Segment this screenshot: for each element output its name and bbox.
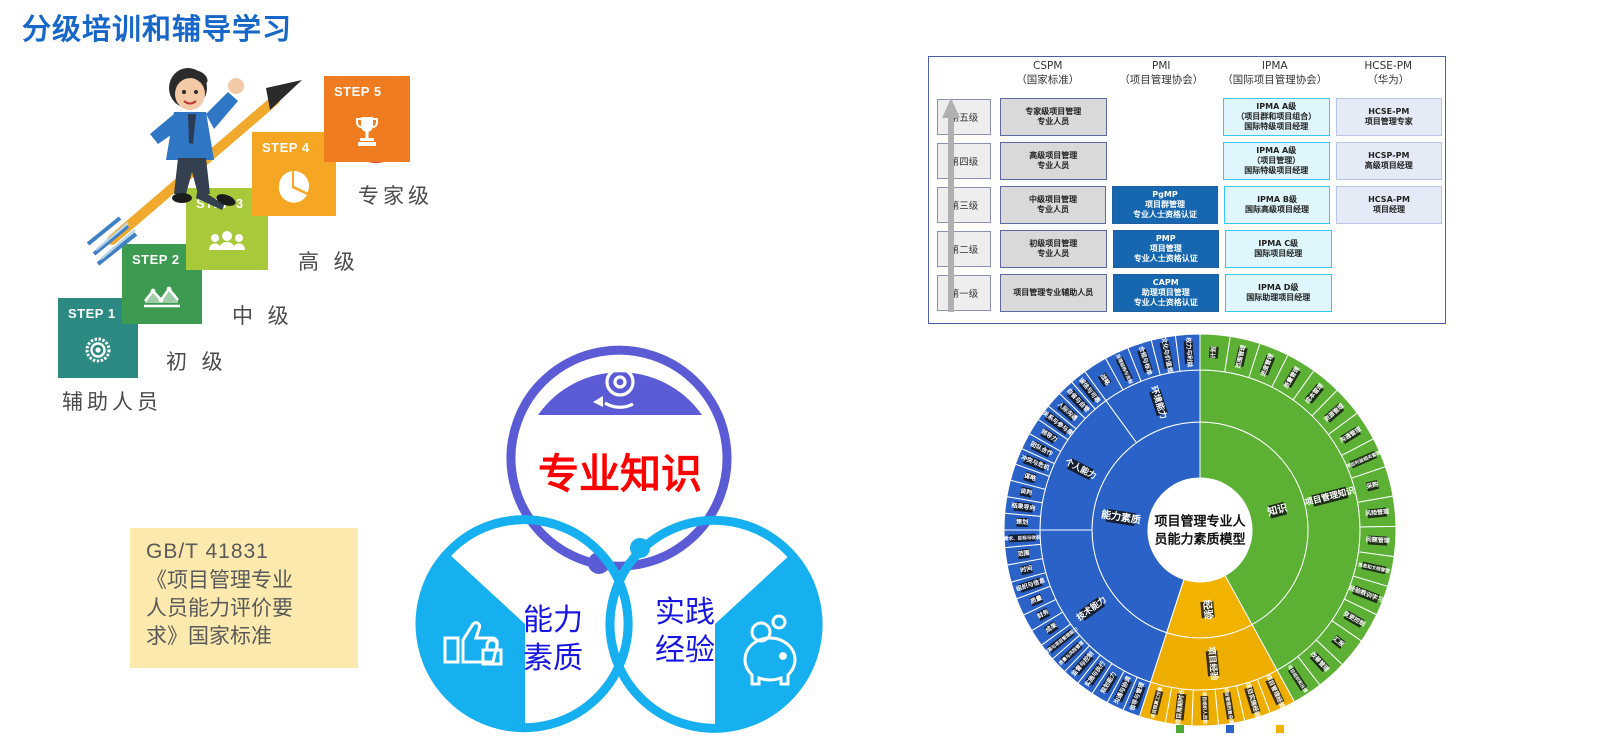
cert-cell[interactable]: 初级项目管理专业人员 [1000, 230, 1107, 268]
sunburst-label: 策划 [1015, 518, 1028, 527]
certification-level-table: CSPM（国家标准） PMI（项目管理协会） IPMA（国际项目管理协会） HC… [928, 56, 1446, 324]
legend-dot-capability [1226, 725, 1234, 733]
competency-venn-diagram: 专业知识 能力 素质 实践 经验 [375, 320, 865, 740]
sunburst-center [1148, 478, 1252, 582]
standard-code: GB/T 41831 [146, 538, 350, 566]
cert-table-header: CSPM（国家标准） PMI（项目管理协会） IPMA（国际项目管理协会） HC… [929, 57, 1445, 95]
step-5[interactable]: STEP 5 [324, 76, 410, 162]
standard-line-4: 求》国家标准 [146, 622, 350, 650]
cert-row: 第一级项目管理专业辅助人员CAPM助理项目管理专业人士资格认证IPMA D级国际… [929, 271, 1445, 315]
cert-row: 第四级高级项目管理专业人员IPMA A级（项目管理）国际特级项目经理HCSP-P… [929, 139, 1445, 183]
cert-col-pmi: PMI（项目管理协会） [1105, 57, 1219, 95]
venn-label-knowledge: 专业知识 [538, 450, 702, 498]
cert-cell[interactable]: 项目管理专业辅助人员 [1000, 274, 1107, 312]
cert-col-hcse: HCSE-PM（华为） [1332, 57, 1446, 95]
cert-cell[interactable]: PMP项目管理专业人士资格认证 [1113, 230, 1220, 268]
competency-sunburst-chart: 知识项目管理知识计划范围管理进度管理质量管理成本管理资源管理沟通管理项目利益相关… [1000, 330, 1400, 730]
grade-label-5: 专家级 [358, 180, 433, 210]
cert-cell[interactable]: IPMA B级国际高级项目经理 [1224, 186, 1330, 224]
grade-label-1: 辅助人员 [62, 386, 162, 416]
cert-cell[interactable]: 专家级项目管理专业人员 [1000, 98, 1107, 136]
cert-table-body: 第五级专家级项目管理专业人员IPMA A级（项目群和项目组合）国际特级项目经理H… [929, 95, 1445, 315]
legend-dot-experience [1276, 725, 1284, 733]
up-arrow-icon [942, 98, 960, 312]
grade-label-2: 初 级 [166, 346, 227, 376]
cert-cell[interactable]: HCSE-PM项目管理专家 [1336, 98, 1443, 136]
sunburst-label: 问题管理 [1365, 535, 1389, 544]
step-5-label: STEP 5 [334, 84, 382, 99]
cert-cell [1338, 274, 1443, 312]
cert-cell[interactable]: PgMP项目群管理专业人士资格认证 [1112, 186, 1218, 224]
cert-col-ipma: IPMA（国际项目管理协会） [1218, 57, 1332, 95]
standard-line-3: 人员能力评价要 [146, 594, 350, 622]
cert-row: 第三级中级项目管理专业人员PgMP项目群管理专业人士资格认证IPMA B级国际高… [929, 183, 1445, 227]
page-title: 分级培训和辅导学习 [22, 6, 292, 48]
legend-dot-knowledge [1176, 725, 1184, 733]
gear-icon [58, 321, 138, 378]
sunburst-center-title: 项目管理专业人 [1154, 514, 1246, 530]
sunburst-label: 范围 [1017, 549, 1030, 559]
cert-cell[interactable]: HCSA-PM项目经理 [1336, 186, 1442, 224]
cert-col-cspm: CSPM（国家标准） [991, 57, 1105, 95]
cert-cell [1113, 98, 1218, 136]
sunburst-label: 计划 [1209, 346, 1218, 359]
cert-cell[interactable]: 高级项目管理专业人员 [1000, 142, 1107, 180]
sunburst-center-title: 员能力素质模型 [1154, 532, 1245, 548]
venn-label-experience-2: 经验 [655, 633, 715, 668]
cert-row: 第五级专家级项目管理专业人员IPMA A级（项目群和项目组合）国际特级项目经理H… [929, 95, 1445, 139]
cert-cell [1113, 142, 1218, 180]
standard-callout-box: GB/T 41831 《项目管理专业 人员能力评价要 求》国家标准 [130, 528, 358, 668]
step-1-label: STEP 1 [68, 306, 116, 321]
cert-cell[interactable]: IPMA D级国际助理项目经理 [1225, 274, 1332, 312]
trophy-icon [324, 99, 410, 162]
cert-cell[interactable]: HCSP-PM高级项目经理 [1336, 142, 1443, 180]
cert-cell[interactable]: IPMA C级国际项目经理 [1225, 230, 1332, 268]
venn-label-capability-2: 素质 [523, 641, 583, 676]
cert-cell[interactable]: IPMA A级（项目管理）国际特级项目经理 [1223, 142, 1330, 180]
sunburst-legend [1176, 725, 1296, 733]
venn-label-experience-1: 实践 [655, 595, 715, 630]
cert-row: 第二级初级项目管理专业人员PMP项目管理专业人士资格认证IPMA C级国际项目经… [929, 227, 1445, 271]
standard-line-2: 《项目管理专业 [146, 566, 350, 594]
cert-cell[interactable]: 中级项目管理专业人员 [1000, 186, 1106, 224]
cert-cell[interactable]: IPMA A级（项目群和项目组合）国际特级项目经理 [1223, 98, 1330, 136]
grade-label-3: 中 级 [232, 300, 293, 330]
cert-cell[interactable]: CAPM助理项目管理专业人士资格认证 [1113, 274, 1220, 312]
grade-label-4: 高 级 [298, 246, 359, 276]
climber-illustration [70, 58, 320, 278]
cert-cell [1338, 230, 1443, 268]
venn-label-capability-1: 能力 [523, 603, 583, 638]
